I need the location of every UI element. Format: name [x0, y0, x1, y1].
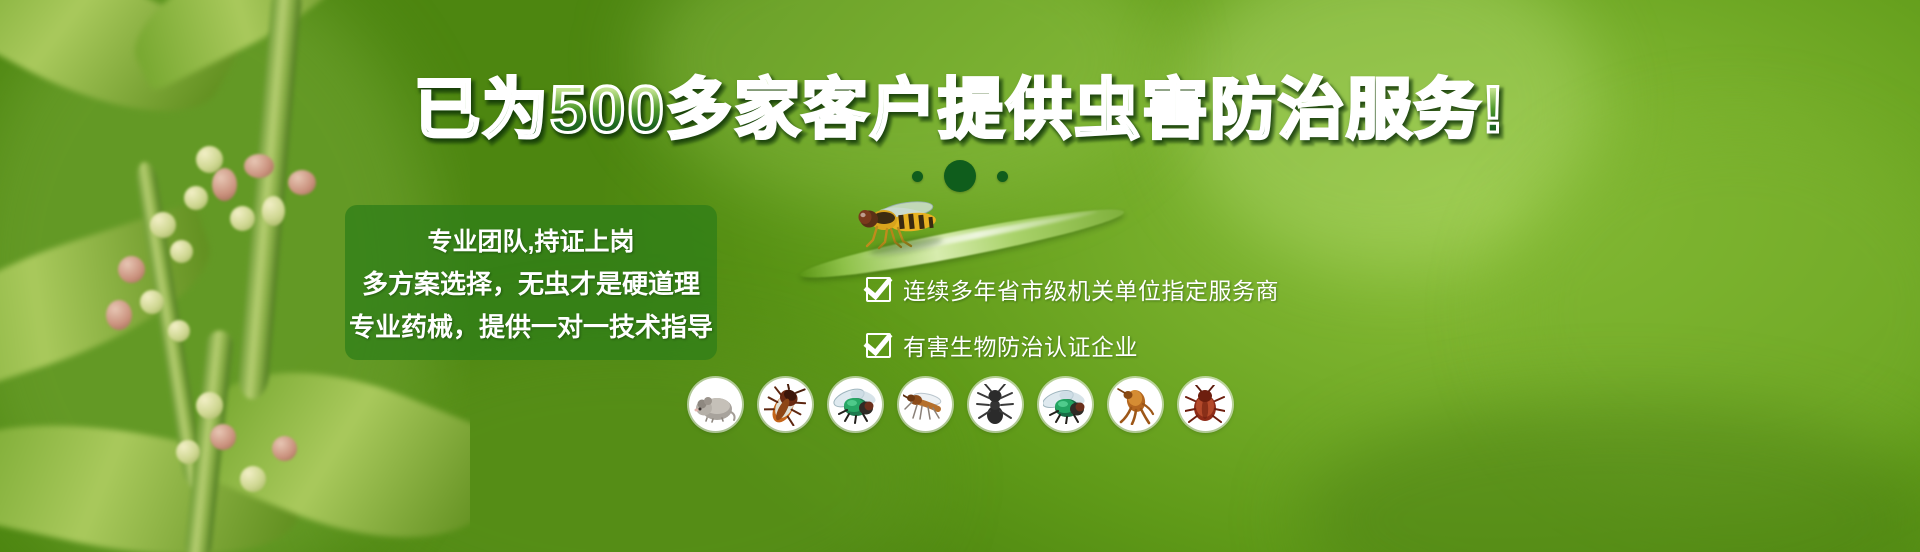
flower-bud [168, 320, 190, 342]
decorative-dots [0, 160, 1920, 192]
page-title: 已为500多家客户提供虫害防治服务! [0, 76, 1920, 142]
flower-bud [106, 300, 132, 330]
bullet-item: 有害生物防治认证企业 [866, 328, 1279, 362]
flower-bud [118, 256, 145, 283]
mouse-icon[interactable] [689, 378, 742, 431]
flower-bud [140, 290, 164, 314]
cockroach-icon[interactable] [759, 378, 812, 431]
bedbug-icon[interactable] [1179, 378, 1232, 431]
highlight-line-2: 多方案选择，无虫才是硬道理 [362, 264, 700, 301]
plant-lower-stem [184, 329, 234, 552]
flower-bud [176, 440, 200, 464]
decorative-dot-small-right [997, 171, 1008, 182]
certification-bullets: 连续多年省市级机关单位指定服务商 有害生物防治认证企业 [866, 272, 1279, 362]
checkbox-checked-icon [866, 277, 891, 302]
highlight-line-1: 专业团队,持证上岗 [428, 222, 635, 258]
highlight-line-3: 专业药械，提供一对一技术指导 [349, 307, 713, 344]
decorative-dot-small-left [912, 171, 923, 182]
hoverfly-photo [851, 196, 951, 258]
highlights-panel: 专业团队,持证上岗 多方案选择，无虫才是硬道理 专业药械，提供一对一技术指导 [345, 205, 717, 360]
flower-bud [262, 196, 285, 226]
flower-bud [170, 240, 193, 263]
checkbox-checked-icon [866, 333, 891, 358]
bullet-label: 连续多年省市级机关单位指定服务商 [903, 272, 1279, 306]
flea-icon[interactable] [1109, 378, 1162, 431]
background-bokeh-4 [330, 330, 930, 552]
housefly-icon[interactable] [829, 378, 882, 431]
flower-bud [230, 206, 255, 231]
plant-main-stem [237, 0, 303, 401]
flower-bud [272, 436, 297, 461]
ant-icon[interactable] [969, 378, 1022, 431]
housefly-icon[interactable] [1039, 378, 1092, 431]
plant-side-stem [134, 160, 205, 489]
pest-icon-row [0, 378, 1920, 431]
mosquito-icon[interactable] [899, 378, 952, 431]
pest-control-banner: 已为500多家客户提供虫害防治服务! 已为500多家客户提供虫害防治服务! [0, 0, 1920, 552]
bullet-label: 有害生物防治认证企业 [903, 328, 1138, 362]
flower-bud [240, 466, 266, 492]
flower-bud [150, 212, 176, 238]
decorative-dot-large [944, 160, 976, 192]
bullet-item: 连续多年省市级机关单位指定服务商 [866, 272, 1279, 306]
leaf-blade-5 [183, 329, 470, 552]
